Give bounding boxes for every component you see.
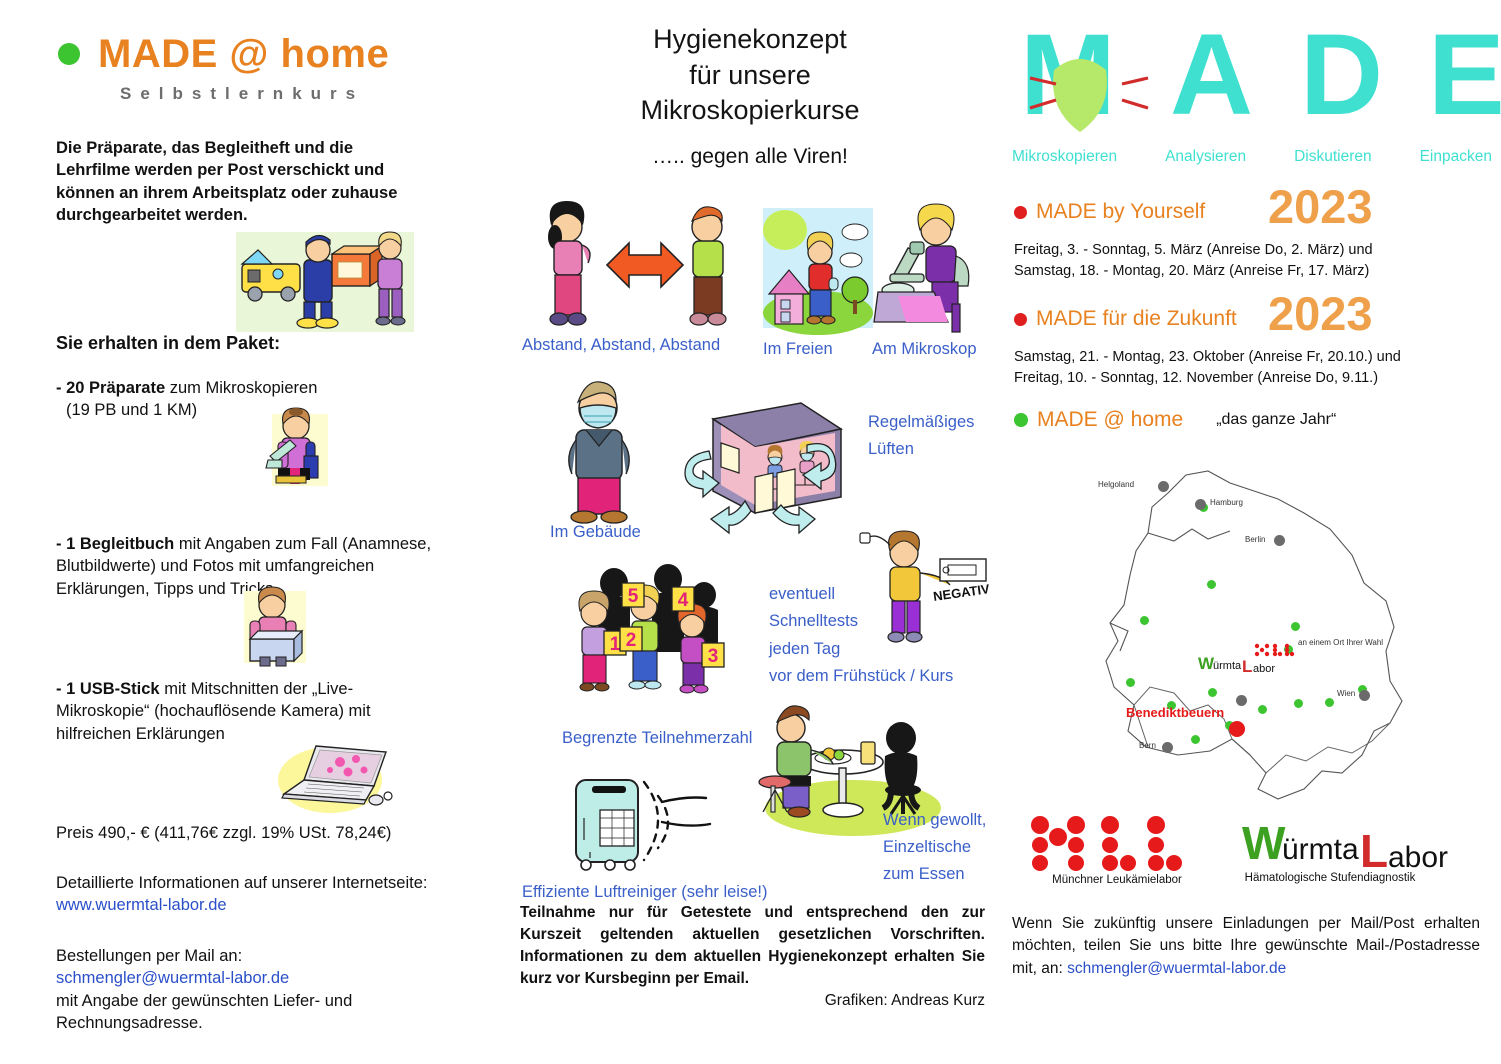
label-tests-line2: Schnelltests xyxy=(769,609,858,634)
svg-text:ürmta: ürmta xyxy=(1213,660,1242,672)
made-at-home-title: MADE @ home xyxy=(58,34,389,74)
selbstlernkurs-subtitle: Selbstlernkurs xyxy=(120,84,364,104)
red-bullet-icon-2 xyxy=(1014,313,1027,326)
label-microscope: Am Mikroskop xyxy=(872,337,977,362)
middle-column: Hygienekonzept für unsere Mikroskopierku… xyxy=(500,0,1000,1064)
map-city-dot-berlin xyxy=(1274,535,1285,546)
made-logo-words: Mikroskopieren Analysieren Diskutieren E… xyxy=(1012,148,1492,166)
map-green-dot xyxy=(1207,580,1216,589)
made-word-mikroskopieren: Mikroskopieren xyxy=(1012,148,1117,166)
made-home-quote: „das ganze Jahr“ xyxy=(1216,411,1336,429)
delivery-postman-package-illustration xyxy=(228,226,418,336)
event-1-title: MADE by Yourself xyxy=(1036,200,1205,224)
made-letter-d: D xyxy=(1300,18,1383,133)
svg-text:3: 3 xyxy=(708,646,719,667)
map-label-berlin: Berlin xyxy=(1245,535,1265,544)
negativ-badge-text: NEGATIV xyxy=(932,581,991,604)
event-1-dates-line2: Samstag, 18. - Montag, 20. März (Anreise… xyxy=(1014,261,1484,282)
intro-paragraph: Die Präparate, das Begleitheft und die L… xyxy=(56,137,426,227)
map-city-dot-hamburg xyxy=(1195,499,1206,510)
event-2-heading: MADE für die Zukunft xyxy=(1014,307,1237,331)
map-label-wien: Wien xyxy=(1337,689,1355,698)
green-bullet-icon-right xyxy=(1014,413,1028,427)
label-limited: Begrenzte Teilnehmerzahl xyxy=(562,726,752,751)
package-item-3: - 1 USB-Stick mit Mitschnitten der „Live… xyxy=(56,678,446,745)
label-tables-line1: Wenn gewollt, xyxy=(883,808,986,833)
map-green-dot xyxy=(1191,735,1200,744)
partner-logos: W ürmta L abor xyxy=(1010,815,1430,905)
map-city-dot-helgoland xyxy=(1158,481,1169,492)
label-airing-line2: Lüften xyxy=(868,437,914,462)
made-letter-a: A xyxy=(1170,18,1253,133)
right-footer-email-link[interactable]: schmengler@wuermtal-labor.de xyxy=(1067,960,1286,977)
map-green-dot xyxy=(1208,688,1217,697)
right-column: M A D E Mikroskopieren Analysieren Disku… xyxy=(1000,0,1501,1064)
red-bullet-icon xyxy=(1014,206,1027,219)
svg-text:L: L xyxy=(1242,657,1252,676)
map-green-dot xyxy=(1325,698,1334,707)
indoors-illustration xyxy=(546,370,656,525)
label-tests-line3: jeden Tag xyxy=(769,637,840,662)
map-green-dot xyxy=(1140,616,1149,625)
hygiene-title-line1: Hygienekonzept xyxy=(500,22,1000,58)
map-green-dot xyxy=(1291,622,1300,631)
made-word-einpacken: Einpacken xyxy=(1420,148,1492,166)
package-item-2-bold: - 1 Begleitbuch xyxy=(56,535,174,553)
made-home-title-right: MADE @ home xyxy=(1037,408,1183,432)
made-logo: M A D E xyxy=(1012,18,1492,138)
svg-text:abor: abor xyxy=(1388,841,1448,874)
face-mask-icon xyxy=(1012,18,1172,148)
right-footer-text: Wenn Sie zukünftig unsere Einladungen pe… xyxy=(1012,913,1480,980)
germany-austria-switzerland-map: Helgoland Hamburg Berlin Wien Bern an ei… xyxy=(1090,455,1420,815)
svg-text:4: 4 xyxy=(678,590,689,611)
svg-text:2: 2 xyxy=(626,630,637,651)
map-green-dot xyxy=(1294,699,1303,708)
map-label-bern: Bern xyxy=(1139,741,1156,750)
map-label-hamburg: Hamburg xyxy=(1210,498,1243,507)
svg-text:abor: abor xyxy=(1253,663,1275,675)
made-at-home-label: MADE @ home xyxy=(98,34,389,74)
order-email-link[interactable]: schmengler@wuermtal-labor.de xyxy=(56,969,289,987)
package-item-1-rest: zum Mikroskopieren xyxy=(165,379,317,397)
svg-text:W: W xyxy=(1242,817,1286,869)
map-mll-logo xyxy=(1253,641,1297,663)
map-label-free-choice: an einem Ort Ihrer Wahl xyxy=(1298,638,1383,647)
map-green-dot xyxy=(1126,678,1135,687)
package-contents-heading: Sie erhalten in dem Paket: xyxy=(56,333,280,354)
made-word-diskutieren: Diskutieren xyxy=(1294,148,1372,166)
child-with-box-illustration xyxy=(226,583,322,669)
event-1-dates: Freitag, 3. - Sonntag, 5. März (Anreise … xyxy=(1014,240,1484,281)
website-link[interactable]: www.wuermtal-labor.de xyxy=(56,896,227,914)
price-line: Preis 490,- € (411,76€ zzgl. 19% USt. 78… xyxy=(56,822,476,844)
event-1-dates-line1: Freitag, 3. - Sonntag, 5. März (Anreise … xyxy=(1014,240,1484,261)
wuermtalabor-caption: Hämatologische Stufendiagnostik xyxy=(1230,872,1430,884)
made-letter-e: E xyxy=(1428,18,1501,133)
hygiene-footer-text: Teilnahme nur für Getestete und entsprec… xyxy=(520,902,985,990)
package-item-1-line2: (19 PB und 1 KM) xyxy=(56,401,197,419)
label-distance: Abstand, Abstand, Abstand xyxy=(522,333,720,358)
air-purifier-illustration xyxy=(562,760,732,880)
laptop-live-microscopy-illustration xyxy=(268,738,398,820)
details-lead: Detaillierte Informationen auf unserer I… xyxy=(56,874,427,892)
map-outline-icon xyxy=(1090,455,1420,815)
package-item-1-bold: - 20 Präparate xyxy=(56,379,165,397)
event-2-year: 2023 xyxy=(1268,290,1373,337)
outdoors-illustration xyxy=(763,208,873,333)
made-word-analysieren: Analysieren xyxy=(1165,148,1246,166)
svg-text:5: 5 xyxy=(628,586,639,607)
map-city-dot-muenchen xyxy=(1236,695,1247,706)
hygiene-subtitle: ….. gegen alle Viren! xyxy=(500,145,1000,169)
distance-illustration xyxy=(525,195,745,335)
map-label-benediktbeuern: Benediktbeuern xyxy=(1126,705,1224,720)
hygiene-title-line2: für unsere xyxy=(500,58,1000,94)
green-bullet-icon xyxy=(58,43,80,65)
svg-text:L: L xyxy=(1360,825,1388,877)
label-tests-line1: eventuell xyxy=(769,582,835,607)
limited-participants-illustration: 1 2 3 4 5 xyxy=(552,565,752,720)
hygiene-title-line3: Mikroskopierkurse xyxy=(500,93,1000,129)
map-green-dot xyxy=(1258,705,1267,714)
map-label-helgoland: Helgoland xyxy=(1098,480,1134,489)
map-highlight-dot-benediktbeuern xyxy=(1229,721,1245,737)
event-2-dates-line1: Samstag, 21. - Montag, 23. Oktober (Anre… xyxy=(1014,347,1484,368)
mll-caption: Münchner Leukämielabor xyxy=(1022,874,1212,886)
label-tables-line3: zum Essen xyxy=(883,862,965,887)
orders-paragraph: Bestellungen per Mail an: schmengler@wue… xyxy=(56,945,486,1035)
event-2-dates: Samstag, 21. - Montag, 23. Oktober (Anre… xyxy=(1014,347,1484,388)
event-2-dates-line2: Freitag, 10. - Sonntag, 12. November (An… xyxy=(1014,368,1484,389)
hygiene-title: Hygienekonzept für unsere Mikroskopierku… xyxy=(500,22,1000,129)
map-city-dot-bern xyxy=(1162,742,1173,753)
svg-text:ürmta: ürmta xyxy=(1282,833,1359,866)
left-column: MADE @ home Selbstlernkurs Die Präparate… xyxy=(0,0,500,1064)
event-1-year: 2023 xyxy=(1268,183,1373,230)
package-item-3-bold: - 1 USB-Stick xyxy=(56,680,160,698)
label-tables-line2: Einzeltische xyxy=(883,835,971,860)
child-microscoping-illustration xyxy=(240,398,330,490)
mll-logo-icon xyxy=(1028,815,1228,883)
event-2-title: MADE für die Zukunft xyxy=(1036,307,1237,331)
map-city-dot-wien xyxy=(1359,690,1370,701)
label-outdoors: Im Freien xyxy=(763,337,833,362)
airing-room-illustration xyxy=(655,385,855,535)
orders-lead: Bestellungen per Mail an: xyxy=(56,947,242,965)
label-tests-line4: vor dem Frühstück / Kurs xyxy=(769,664,953,689)
graphics-credit: Grafiken: Andreas Kurz xyxy=(520,992,985,1010)
label-airing-line1: Regelmäßiges xyxy=(868,410,974,435)
event-1-heading: MADE by Yourself xyxy=(1014,200,1205,224)
svg-text:1: 1 xyxy=(610,634,621,655)
microscope-illustration xyxy=(870,200,980,333)
details-paragraph: Detaillierte Informationen auf unserer I… xyxy=(56,872,476,917)
label-indoors: Im Gebäude xyxy=(550,520,641,545)
rapid-test-illustration: NEGATIV xyxy=(848,525,988,650)
orders-tail: mit Angabe der gewünschten Liefer- und R… xyxy=(56,992,352,1032)
made-home-heading: MADE @ home „das ganze Jahr“ xyxy=(1014,408,1336,432)
